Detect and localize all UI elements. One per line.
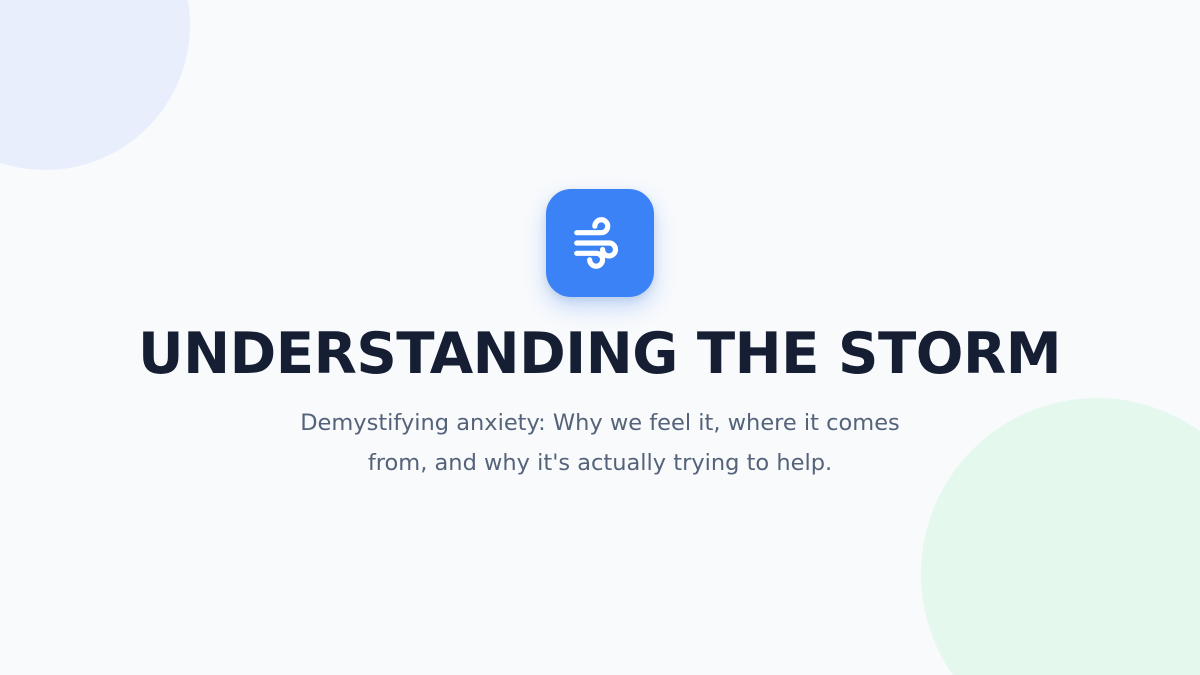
wind-icon — [569, 212, 631, 274]
title-slide: UNDERSTANDING THE STORM Demystifying anx… — [0, 0, 1200, 675]
slide-subtitle: Demystifying anxiety: Why we feel it, wh… — [290, 403, 910, 483]
wind-icon-tile — [546, 189, 654, 297]
slide-content: UNDERSTANDING THE STORM Demystifying anx… — [0, 0, 1200, 675]
slide-title: UNDERSTANDING THE STORM — [138, 324, 1061, 384]
